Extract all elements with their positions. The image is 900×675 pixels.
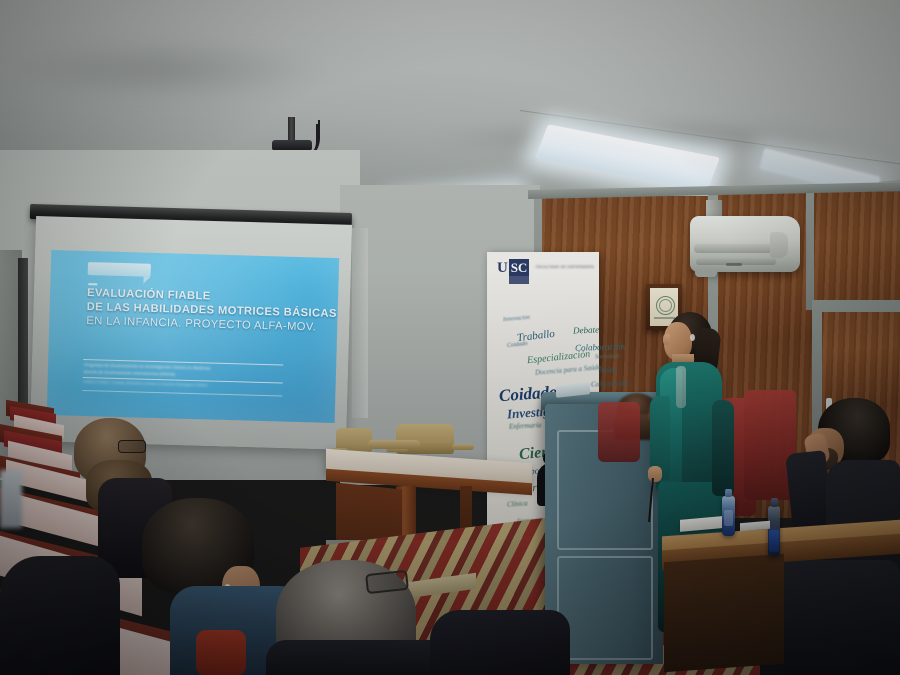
speaker-right-arm: [712, 400, 734, 496]
chair-arm: [452, 444, 474, 450]
wall-strip: [352, 228, 368, 418]
word-cloud-term: Coidado: [507, 341, 528, 349]
wall-mullion: [806, 190, 814, 310]
word-cloud-term: Colaboración: [575, 341, 625, 353]
word-cloud-term: Debate: [573, 325, 599, 336]
usc-logo-crest: [509, 276, 529, 284]
audience-member-shoulders: [266, 640, 456, 675]
red-chair[interactable]: [598, 402, 640, 462]
usc-logo-badge: SC: [509, 259, 529, 276]
audience-member-scarf: [196, 630, 246, 675]
chair-back[interactable]: [368, 440, 420, 449]
water-bottle[interactable]: [722, 496, 735, 536]
split-air-conditioner: [690, 216, 800, 272]
slide-accent-dash: [88, 283, 97, 285]
slide-accent-bubble: [88, 262, 151, 277]
lecture-hall-photo: EVALUACIÓN FIABLE DE LAS HABILIDADES MOT…: [0, 0, 900, 675]
ceiling-stain-secondary: [0, 40, 320, 100]
word-cloud-term: Innovación: [503, 315, 530, 323]
eyeglasses: [118, 440, 146, 453]
word-cloud-term: Docencia para a Saúde: [535, 363, 601, 377]
panel-table-front: [664, 554, 784, 672]
speaker-nose: [663, 334, 670, 345]
audience-member-torso: [430, 610, 570, 675]
word-cloud-term: Clínica: [507, 499, 528, 508]
lectern-panel-lower: [557, 556, 653, 660]
slide-accent-bubble-tail: [143, 277, 150, 284]
speaker-earring: [690, 334, 695, 341]
ac-drain-pipe: [695, 270, 717, 277]
word-cloud-term: Coñecemento: [591, 379, 629, 388]
projected-slide: EVALUACIÓN FIABLE DE LAS HABILIDADES MOT…: [47, 250, 339, 423]
wall-document-rack: [0, 470, 22, 528]
speaker-left-hand: [648, 466, 662, 482]
audience-member-torso: [0, 556, 120, 675]
word-cloud-term: Sociedade: [595, 354, 620, 361]
word-cloud-term: Enfermaría: [509, 421, 542, 431]
speaker-inner-top: [676, 366, 686, 408]
usc-logo-letter-u: U: [497, 260, 508, 277]
banner-faculty-text: FACULTADE DE ENFERMARÍA: [536, 265, 594, 269]
word-cloud-term: Saúde: [599, 366, 616, 375]
water-bottle[interactable]: [768, 506, 780, 556]
